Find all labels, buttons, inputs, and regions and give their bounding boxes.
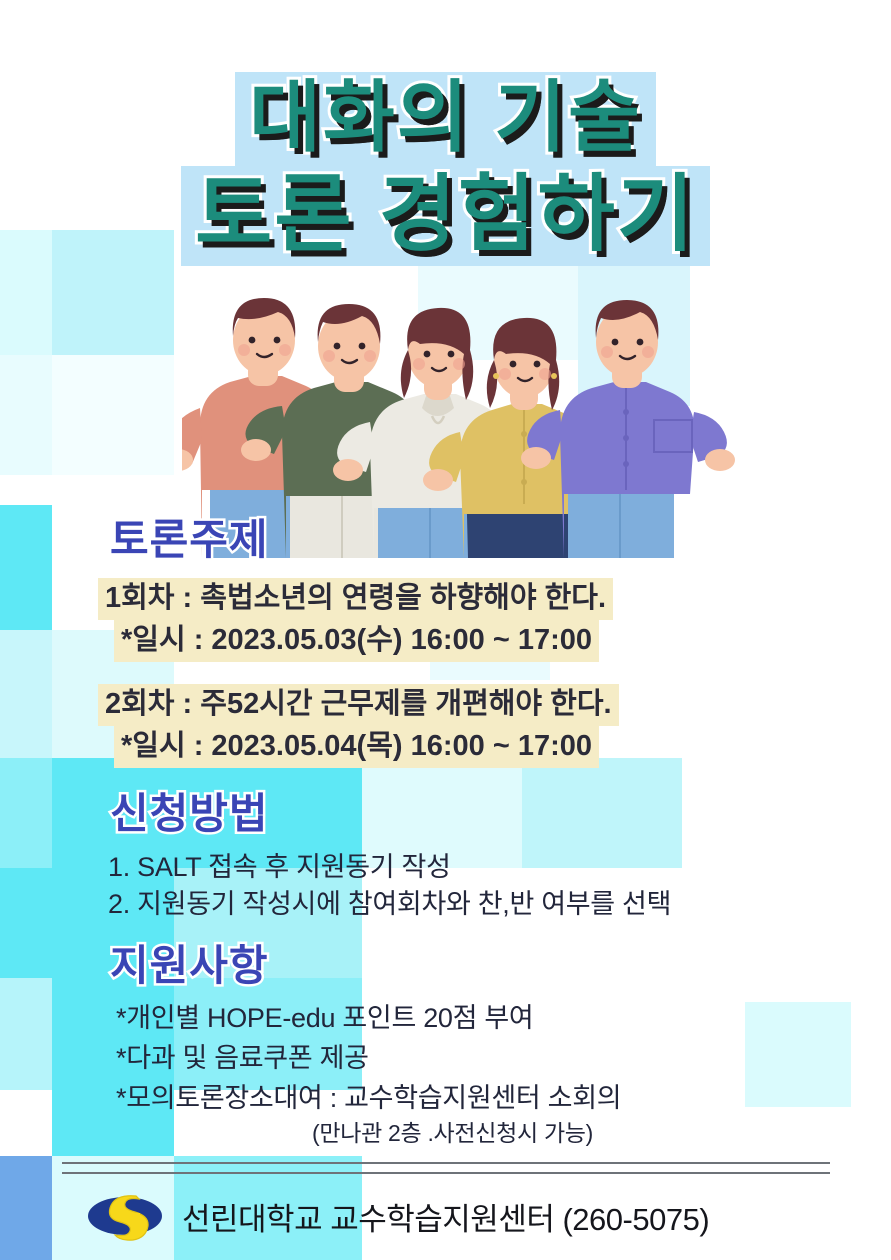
- title-text-2: 토론 경험하기: [195, 167, 696, 261]
- topic-2-title: 2회차 : 주52시간 근무제를 개편해야 한다.: [98, 684, 619, 726]
- sunlin-university-logo-icon: [86, 1188, 164, 1244]
- support-benefit-1: *개인별 HOPE-edu 포인트 20점 부여: [116, 996, 533, 1035]
- support-benefit-3: *모의토론장소대여 : 교수학습지원센터 소회의: [116, 1076, 621, 1115]
- support-benefit-2: *다과 및 음료쿠폰 제공: [116, 1036, 369, 1075]
- bg-block: [0, 630, 52, 758]
- bg-block: [745, 1002, 851, 1107]
- bg-block: [0, 758, 52, 868]
- bg-block: [0, 505, 52, 630]
- footer-divider-bottom: [62, 1172, 830, 1174]
- bg-block: [0, 1090, 52, 1156]
- topic-1-datetime: *일시 : 2023.05.03(수) 16:00 ~ 17:00: [114, 620, 599, 662]
- topic-2-datetime: *일시 : 2023.05.04(목) 16:00 ~ 17:00: [114, 726, 599, 768]
- topic-item-2: 2회차 : 주52시간 근무제를 개편해야 한다. *일시 : 2023.05.…: [98, 684, 619, 768]
- title-line-2: 토론 경험하기: [0, 166, 891, 266]
- footer-organization: 선린대학교 교수학습지원센터 (260-5075): [182, 1194, 709, 1239]
- topic-1-title: 1회차 : 촉법소년의 연령을 하향해야 한다.: [98, 578, 613, 620]
- section-heading-support: 지원사항: [110, 932, 269, 993]
- bg-block: [0, 978, 52, 1090]
- apply-step-1: 1. SALT 접속 후 지원동기 작성: [108, 845, 451, 884]
- apply-step-2: 2. 지원동기 작성시에 참여회차와 찬,반 여부를 선택: [108, 882, 671, 921]
- footer-divider-top: [62, 1162, 830, 1164]
- section-heading-topic: 토론주제: [110, 506, 269, 567]
- support-note: (만나관 2층 .사전신청시 가능): [312, 1114, 593, 1148]
- poster-title: 대화의 기술 토론 경험하기: [0, 72, 891, 266]
- poster-root: 대화의 기술 토론 경험하기: [0, 0, 891, 1260]
- title-highlight-1: 대화의 기술: [235, 72, 655, 166]
- footer: 선린대학교 교수학습지원센터 (260-5075): [86, 1188, 709, 1244]
- section-heading-apply: 신청방법: [110, 780, 269, 841]
- title-highlight-2: 토론 경험하기: [181, 166, 710, 266]
- bg-block: [0, 355, 52, 475]
- bg-block: [52, 355, 174, 475]
- bg-block: [522, 758, 682, 868]
- title-line-1: 대화의 기술: [0, 72, 891, 166]
- bg-block: [0, 1156, 52, 1260]
- bg-block: [0, 868, 52, 978]
- title-text-1: 대화의 기술: [249, 73, 641, 161]
- topic-item-1: 1회차 : 촉법소년의 연령을 하향해야 한다. *일시 : 2023.05.0…: [98, 578, 613, 662]
